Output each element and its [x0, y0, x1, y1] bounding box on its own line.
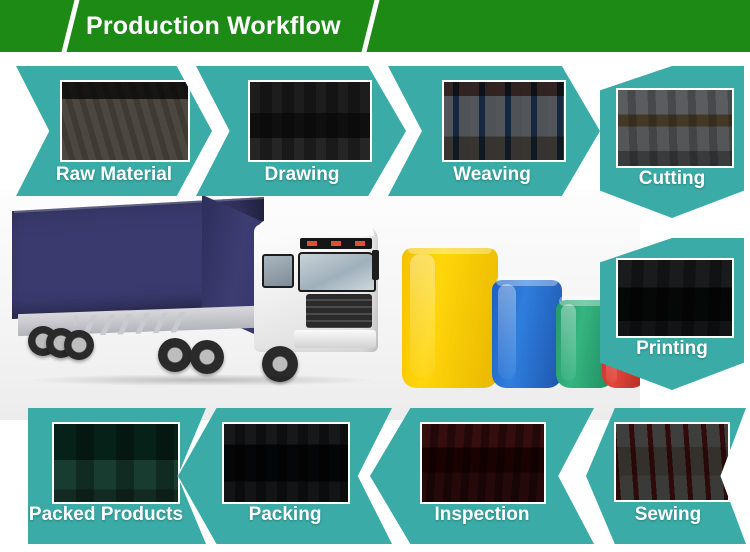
step-tile-weaving[interactable]: Weaving	[388, 66, 600, 196]
tractor-wheel	[190, 340, 224, 374]
step-label-cutting: Cutting	[600, 168, 744, 190]
tractor-wheel	[158, 338, 192, 372]
packing-photo	[222, 422, 350, 504]
step-tile-cutting[interactable]: Cutting	[600, 66, 744, 218]
step-label-printing: Printing	[600, 338, 744, 360]
step-label-packed-products: Packed Products	[28, 504, 184, 526]
truck-grille	[306, 294, 372, 328]
center-product-photo	[0, 190, 640, 420]
step-tile-sewing[interactable]: Sewing	[586, 408, 746, 544]
weaving-photo	[442, 80, 566, 162]
inspection-photo	[420, 422, 546, 504]
step-label-sewing: Sewing	[598, 504, 738, 526]
cab-windshield	[298, 252, 376, 292]
woven-bag-samples	[400, 248, 626, 388]
sewing-photo	[614, 422, 730, 502]
drawing-photo	[248, 80, 372, 162]
cab-side-window	[262, 254, 294, 288]
packed-products-photo	[52, 422, 180, 504]
delivery-truck-photo	[6, 198, 406, 383]
step-label-raw-material: Raw Material	[16, 164, 212, 186]
step-label-inspection: Inspection	[384, 504, 580, 526]
slash-decoration-left	[60, 0, 81, 52]
chassis-support-bars	[74, 312, 186, 336]
header-banner: Production Workflow	[0, 0, 750, 52]
slash-decoration-right	[360, 0, 381, 52]
truck-bumper	[294, 330, 376, 348]
cutting-photo	[616, 88, 734, 168]
yellow-woven-bag	[402, 248, 498, 388]
page-title: Production Workflow	[86, 0, 341, 52]
step-label-drawing: Drawing	[202, 164, 402, 186]
step-tile-packing[interactable]: Packing	[178, 408, 392, 544]
step-label-packing: Packing	[192, 504, 378, 526]
cab-marker-lights	[300, 238, 372, 249]
step-label-weaving: Weaving	[392, 164, 592, 186]
step-tile-inspection[interactable]: Inspection	[370, 408, 594, 544]
step-tile-printing[interactable]: Printing	[600, 238, 744, 390]
blue-woven-bag	[492, 280, 562, 388]
trailer-wheel	[64, 330, 94, 360]
step-tile-raw-material[interactable]: Raw Material	[16, 66, 212, 196]
truck-shadow	[26, 374, 376, 386]
printing-photo	[616, 258, 734, 338]
cab-mirror	[372, 250, 379, 280]
production-workflow-infographic: Production Workflow	[0, 0, 750, 552]
cab-roof	[258, 220, 374, 236]
raw-material-photo	[60, 80, 190, 162]
step-tile-drawing[interactable]: Drawing	[196, 66, 406, 196]
